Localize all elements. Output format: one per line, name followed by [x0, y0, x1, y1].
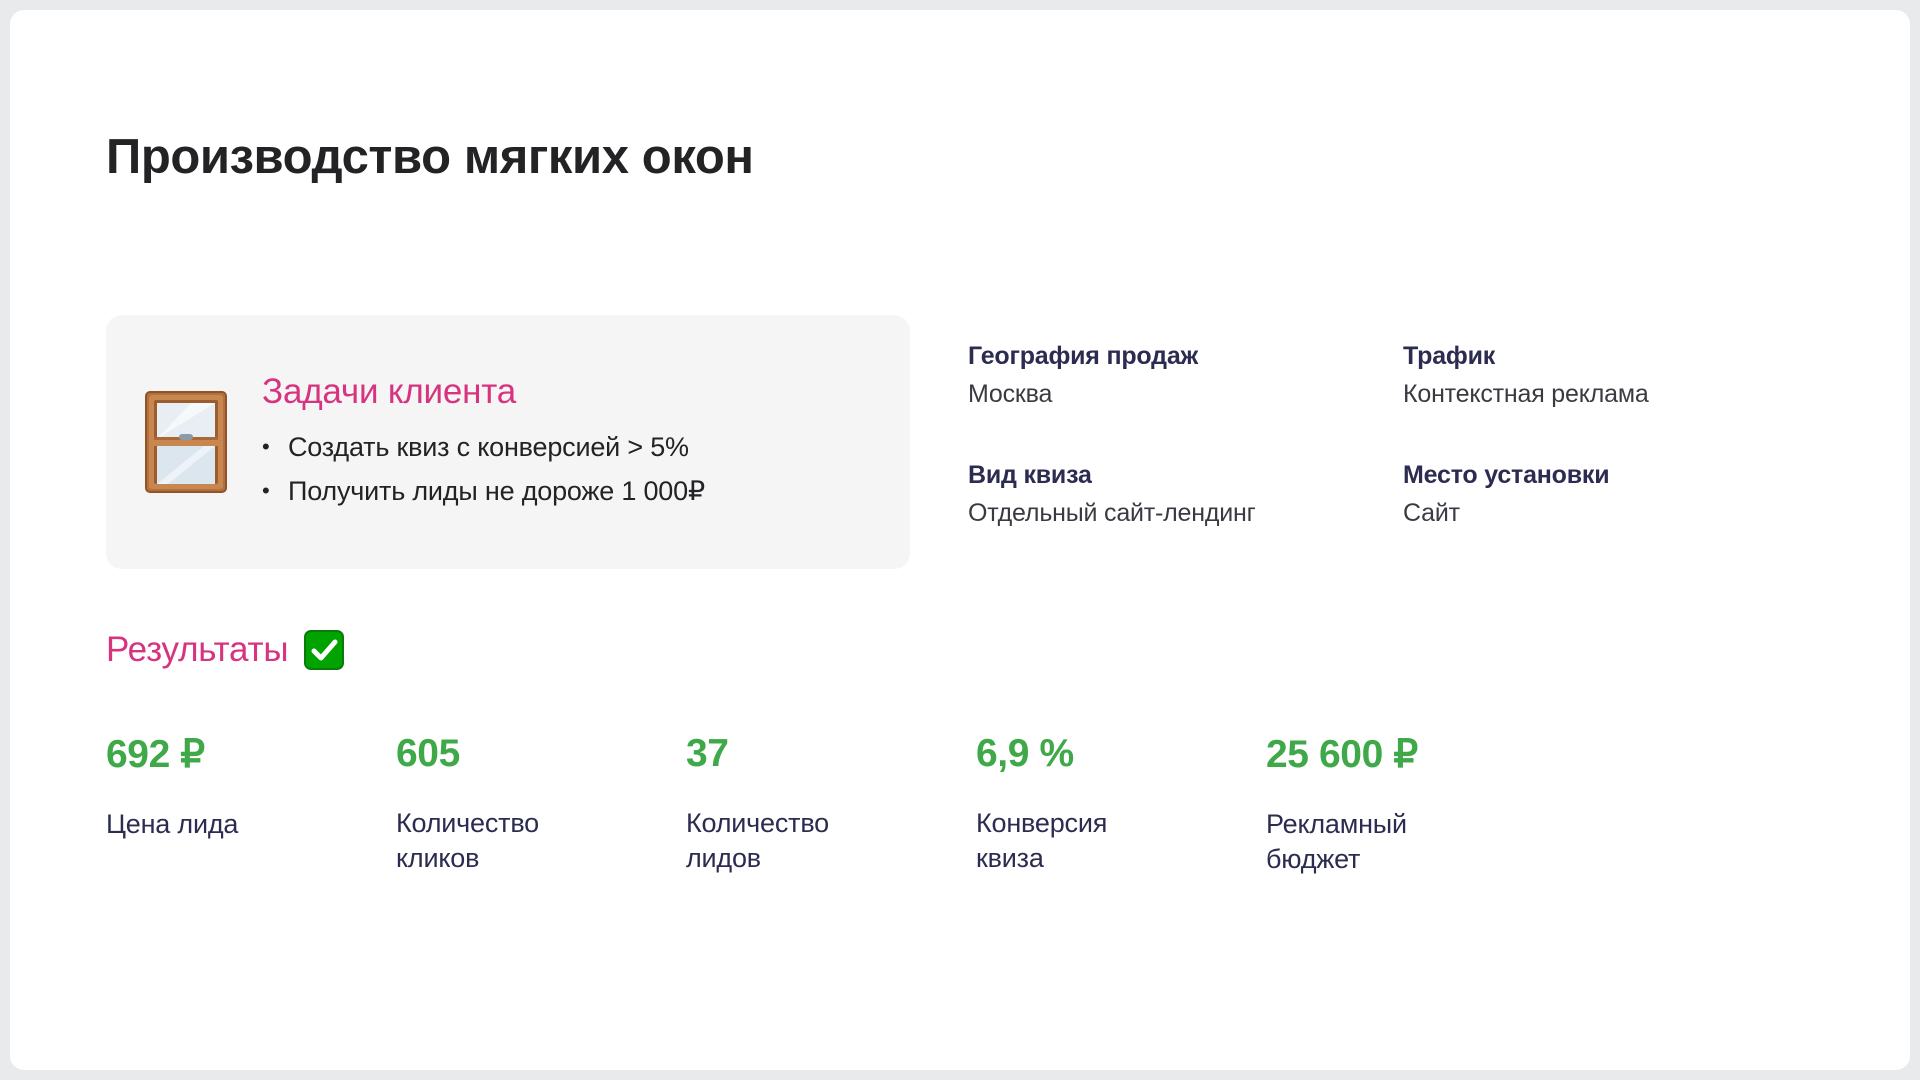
- metric-label: Цена лида: [106, 807, 296, 842]
- metric-leads: 37 Количество лидов: [686, 732, 976, 877]
- metric-value: 37: [686, 732, 976, 776]
- results-metrics: 692 ₽ Цена лида 605 Количество кликов 37…: [106, 732, 1806, 877]
- client-tasks-body: Задачи клиента • Создать квиз с конверси…: [262, 370, 910, 513]
- info-value: Отдельный сайт-лендинг: [968, 499, 1403, 528]
- metric-value: 6,9 %: [976, 732, 1266, 776]
- metric-label: Конверсия квиза: [976, 806, 1166, 876]
- metric-value: 605: [396, 732, 686, 776]
- metric-label: Количество лидов: [686, 806, 876, 876]
- window-emoji: [144, 390, 228, 494]
- slide-card: Производство мягких окон Задачи клиента: [10, 10, 1910, 1070]
- results-heading: Результаты: [106, 630, 344, 670]
- info-cell-quiz-type: Вид квиза Отдельный сайт-лендинг: [968, 461, 1403, 528]
- client-tasks-heading: Задачи клиента: [262, 372, 910, 412]
- results-heading-label: Результаты: [106, 630, 288, 670]
- info-label: Вид квиза: [968, 461, 1403, 490]
- bullet-icon: •: [262, 436, 288, 458]
- list-item: • Получить лиды не дороже 1 000₽: [262, 470, 910, 514]
- metric-clicks: 605 Количество кликов: [396, 732, 686, 877]
- metric-conversion: 6,9 % Конверсия квиза: [976, 732, 1266, 877]
- page-title: Производство мягких окон: [106, 130, 754, 185]
- info-label: Трафик: [1403, 342, 1848, 371]
- client-tasks-list: • Создать квиз с конверсией > 5% • Получ…: [262, 426, 910, 513]
- info-value: Москва: [968, 380, 1403, 409]
- info-cell-geography: География продаж Москва: [968, 342, 1403, 409]
- info-value: Сайт: [1403, 499, 1848, 528]
- campaign-info-grid: География продаж Москва Трафик Контекстн…: [968, 342, 1848, 528]
- list-item-label: Получить лиды не дороже 1 000₽: [288, 470, 705, 514]
- metric-label: Рекламный бюджет: [1266, 807, 1456, 877]
- bullet-icon: •: [262, 480, 288, 502]
- client-tasks-card: Задачи клиента • Создать квиз с конверси…: [106, 315, 910, 569]
- info-cell-placement: Место установки Сайт: [1403, 461, 1848, 528]
- info-label: Место установки: [1403, 461, 1848, 490]
- list-item-label: Создать квиз с конверсией > 5%: [288, 426, 689, 470]
- metric-budget: 25 600 ₽ Рекламный бюджет: [1266, 732, 1556, 877]
- info-value: Контекстная реклама: [1403, 380, 1848, 409]
- list-item: • Создать квиз с конверсией > 5%: [262, 426, 910, 470]
- metric-value: 25 600 ₽: [1266, 732, 1556, 777]
- info-cell-traffic: Трафик Контекстная реклама: [1403, 342, 1848, 409]
- info-label: География продаж: [968, 342, 1403, 371]
- white-check-mark-emoji: [304, 630, 344, 670]
- metric-value: 692 ₽: [106, 732, 396, 777]
- metric-lead-price: 692 ₽ Цена лида: [106, 732, 396, 877]
- metric-label: Количество кликов: [396, 806, 586, 876]
